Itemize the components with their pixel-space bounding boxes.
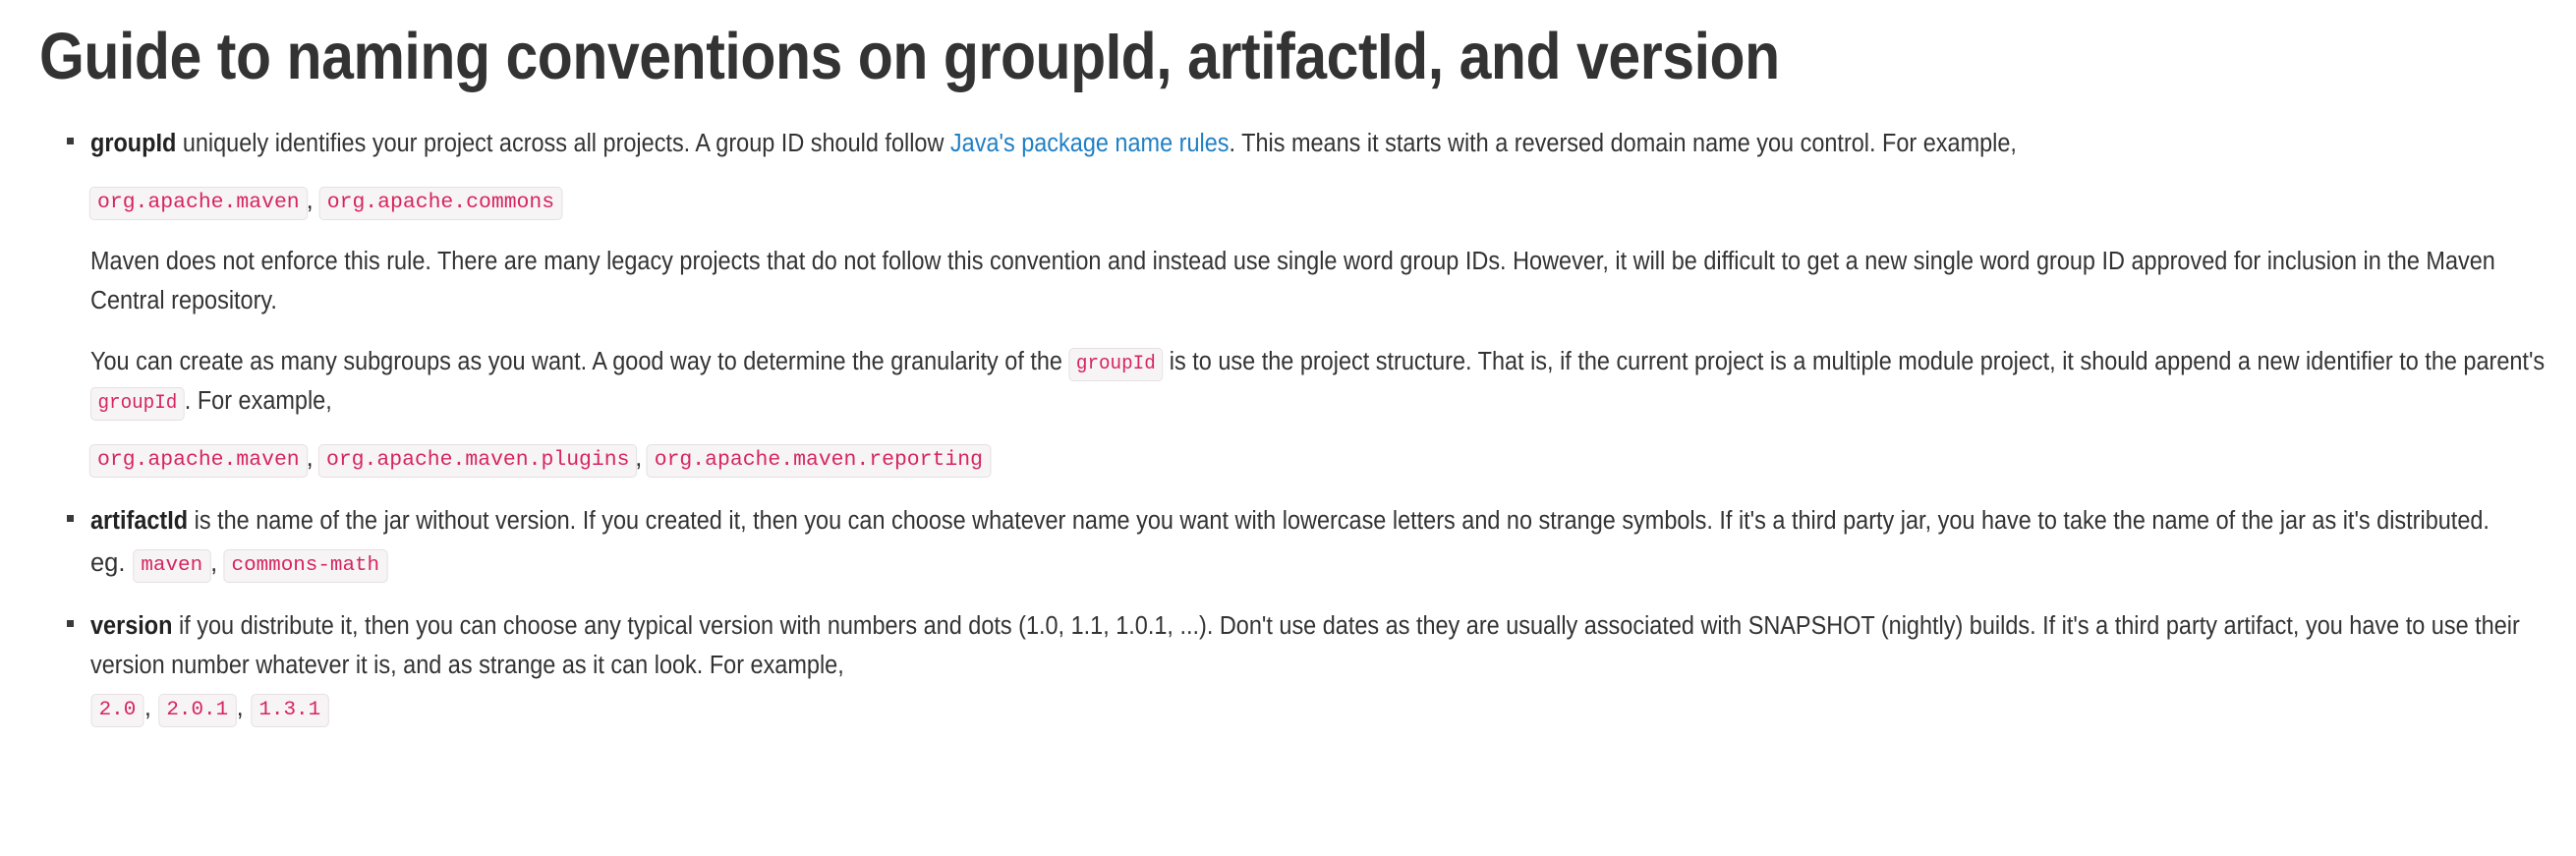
code-chip: groupId: [1068, 348, 1163, 381]
code-chip: org.apache.maven: [89, 187, 308, 220]
groupid-enforcement-paragraph: Maven does not enforce this rule. There …: [90, 242, 2548, 320]
java-package-name-rules-link[interactable]: Java's package name rules: [950, 130, 1230, 157]
artifactid-example-chip-row: eg. maven, commons-math: [90, 544, 2548, 583]
artifactid-text: is the name of the jar without version. …: [188, 507, 2490, 535]
version-example-chip-row: 2.0, 2.0.1, 1.3.1: [90, 689, 2548, 727]
version-text: if you distribute it, then you can choos…: [90, 612, 2520, 679]
list-item-version: version if you distribute it, then you c…: [90, 606, 2548, 727]
version-paragraph: version if you distribute it, then you c…: [90, 606, 2548, 685]
code-chip: org.apache.maven.reporting: [647, 444, 992, 478]
subgroups-text-part1: You can create as many subgroups as you …: [90, 348, 1068, 375]
artifactid-lead-term: artifactId: [90, 507, 188, 535]
code-chip: 2.0: [90, 694, 143, 727]
version-lead-term: version: [90, 612, 172, 640]
groupid-example-chip-row-2: org.apache.maven, org.apache.maven.plugi…: [90, 440, 2548, 478]
naming-conventions-list: groupId uniquely identifies your project…: [0, 124, 2576, 727]
code-chip: maven: [133, 549, 210, 583]
subgroups-text-part2: is to use the project structure. That is…: [1163, 348, 2545, 375]
page-title: Guide to naming conventions on groupId, …: [39, 18, 1780, 96]
subgroups-text-part3: . For example,: [185, 387, 332, 415]
groupid-intro-before-link: uniquely identifies your project across …: [176, 130, 950, 157]
chip-separator: ,: [210, 549, 217, 577]
artifactid-paragraph: artifactId is the name of the jar withou…: [90, 501, 2548, 541]
code-chip: groupId: [90, 387, 185, 421]
groupid-intro-after-link: . This means it starts with a reversed d…: [1229, 130, 2016, 157]
groupid-lead-term: groupId: [90, 130, 176, 157]
code-chip: org.apache.maven: [89, 444, 308, 478]
list-item-artifactid: artifactId is the name of the jar withou…: [90, 501, 2548, 583]
code-chip: org.apache.commons: [318, 187, 562, 220]
code-chip: 1.3.1: [251, 694, 328, 727]
code-chip: commons-math: [224, 549, 388, 583]
groupid-intro-paragraph: groupId uniquely identifies your project…: [90, 124, 2548, 163]
groupid-example-chip-row-1: org.apache.maven, org.apache.commons: [90, 183, 2548, 220]
groupid-subgroups-paragraph: You can create as many subgroups as you …: [90, 342, 2548, 421]
chip-separator: ,: [237, 694, 244, 721]
code-chip: 2.0.1: [158, 694, 236, 727]
list-item-groupid: groupId uniquely identifies your project…: [90, 124, 2548, 478]
code-chip: org.apache.maven.plugins: [318, 444, 638, 478]
eg-label: eg.: [90, 549, 125, 577]
chip-separator: ,: [144, 694, 151, 721]
